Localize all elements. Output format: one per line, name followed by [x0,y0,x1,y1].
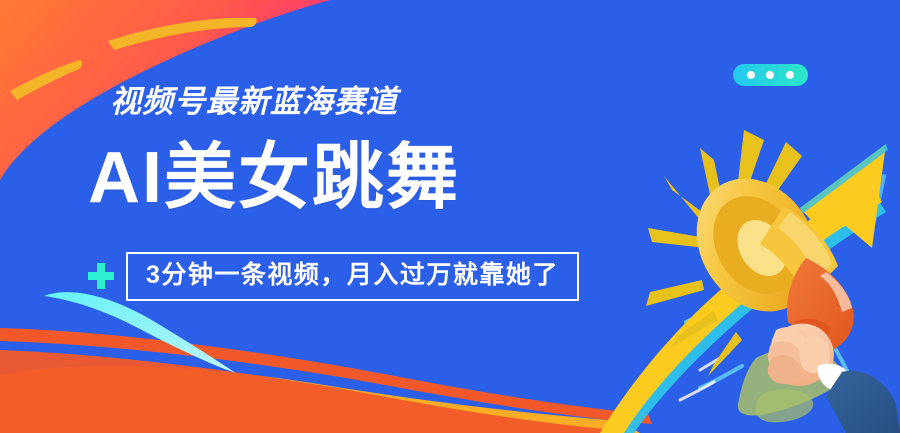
suit-sleeve [826,371,900,433]
dot-1 [747,71,755,79]
subtitle-group: 3分钟一条视频，月入过万就靠她了 [88,252,579,301]
page-title: AI美女跳舞 [88,140,460,218]
three-dots-pill[interactable] [733,64,808,86]
subtitle-text: 3分钟一条视频，月入过万就靠她了 [146,261,559,290]
ground-shadow-2 [756,389,814,422]
plus-icon [88,263,114,289]
dot-2 [766,71,774,79]
subtitle-box: 3分钟一条视频，月入过万就靠她了 [126,252,579,301]
promo-banner: 视频号最新蓝海赛道 AI美女跳舞 3分钟一条视频，月入过万就靠她了 [0,0,900,433]
dot-3 [786,71,794,79]
eyebrow-text: 视频号最新蓝海赛道 [110,86,398,117]
